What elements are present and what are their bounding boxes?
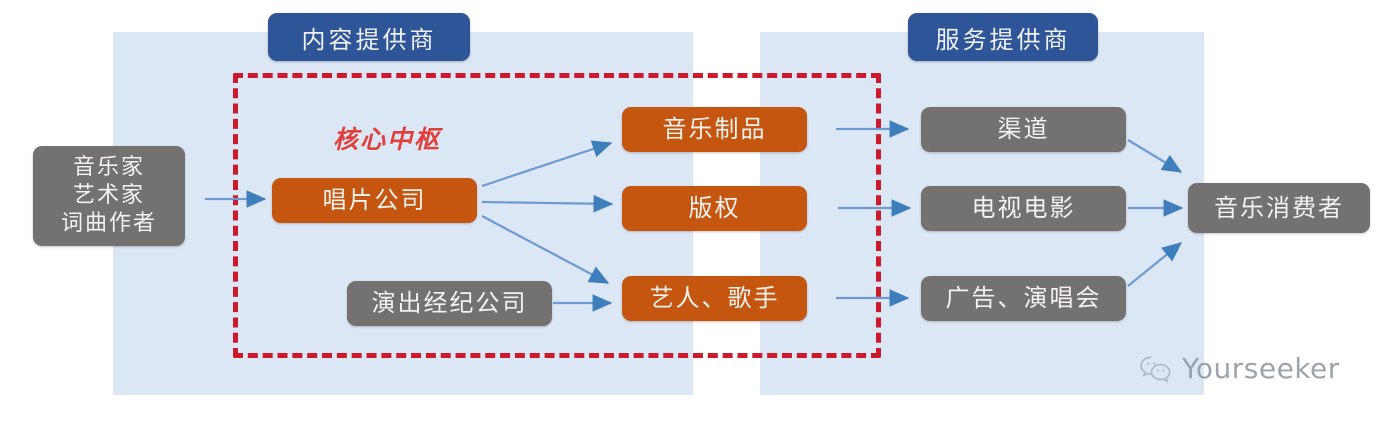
node-performance-agency: 演出经纪公司 bbox=[347, 281, 552, 326]
node-music-consumers: 音乐消费者 bbox=[1188, 183, 1370, 233]
node-creators: 音乐家 艺术家 词曲作者 bbox=[33, 146, 185, 246]
node-ads-concerts-label: 广告、演唱会 bbox=[946, 283, 1102, 314]
node-music-products: 音乐制品 bbox=[622, 107, 807, 152]
node-performance-agency-label: 演出经纪公司 bbox=[372, 288, 528, 319]
node-artists-singers-label: 艺人、歌手 bbox=[650, 283, 780, 314]
core-hub-label: 核心中枢 bbox=[333, 120, 441, 156]
node-channel-label: 渠道 bbox=[998, 114, 1050, 145]
watermark-label: Yourseeker bbox=[1182, 352, 1340, 385]
node-copyright: 版权 bbox=[622, 186, 807, 231]
node-creators-line-2: 艺术家 bbox=[73, 182, 145, 210]
node-copyright-label: 版权 bbox=[689, 193, 741, 224]
diagram-canvas: 内容提供商 服务提供商 核心中枢 bbox=[0, 0, 1397, 427]
header-service-provider: 服务提供商 bbox=[908, 13, 1098, 61]
node-record-company-label: 唱片公司 bbox=[323, 185, 427, 216]
header-content-provider: 内容提供商 bbox=[268, 13, 470, 61]
node-record-company: 唱片公司 bbox=[272, 178, 477, 223]
node-music-consumers-label: 音乐消费者 bbox=[1214, 193, 1344, 224]
header-service-provider-label: 服务提供商 bbox=[936, 20, 1071, 55]
header-content-provider-label: 内容提供商 bbox=[302, 20, 437, 55]
node-ads-concerts: 广告、演唱会 bbox=[921, 276, 1126, 321]
node-artists-singers: 艺人、歌手 bbox=[622, 276, 807, 321]
node-creators-line-1: 音乐家 bbox=[73, 154, 145, 182]
wechat-icon bbox=[1139, 354, 1173, 384]
node-creators-line-3: 词曲作者 bbox=[61, 210, 157, 238]
node-tv-film: 电视电影 bbox=[921, 186, 1126, 231]
node-music-products-label: 音乐制品 bbox=[663, 114, 767, 145]
node-tv-film-label: 电视电影 bbox=[972, 193, 1076, 224]
watermark: Yourseeker bbox=[1139, 352, 1340, 385]
node-channel: 渠道 bbox=[921, 107, 1126, 152]
